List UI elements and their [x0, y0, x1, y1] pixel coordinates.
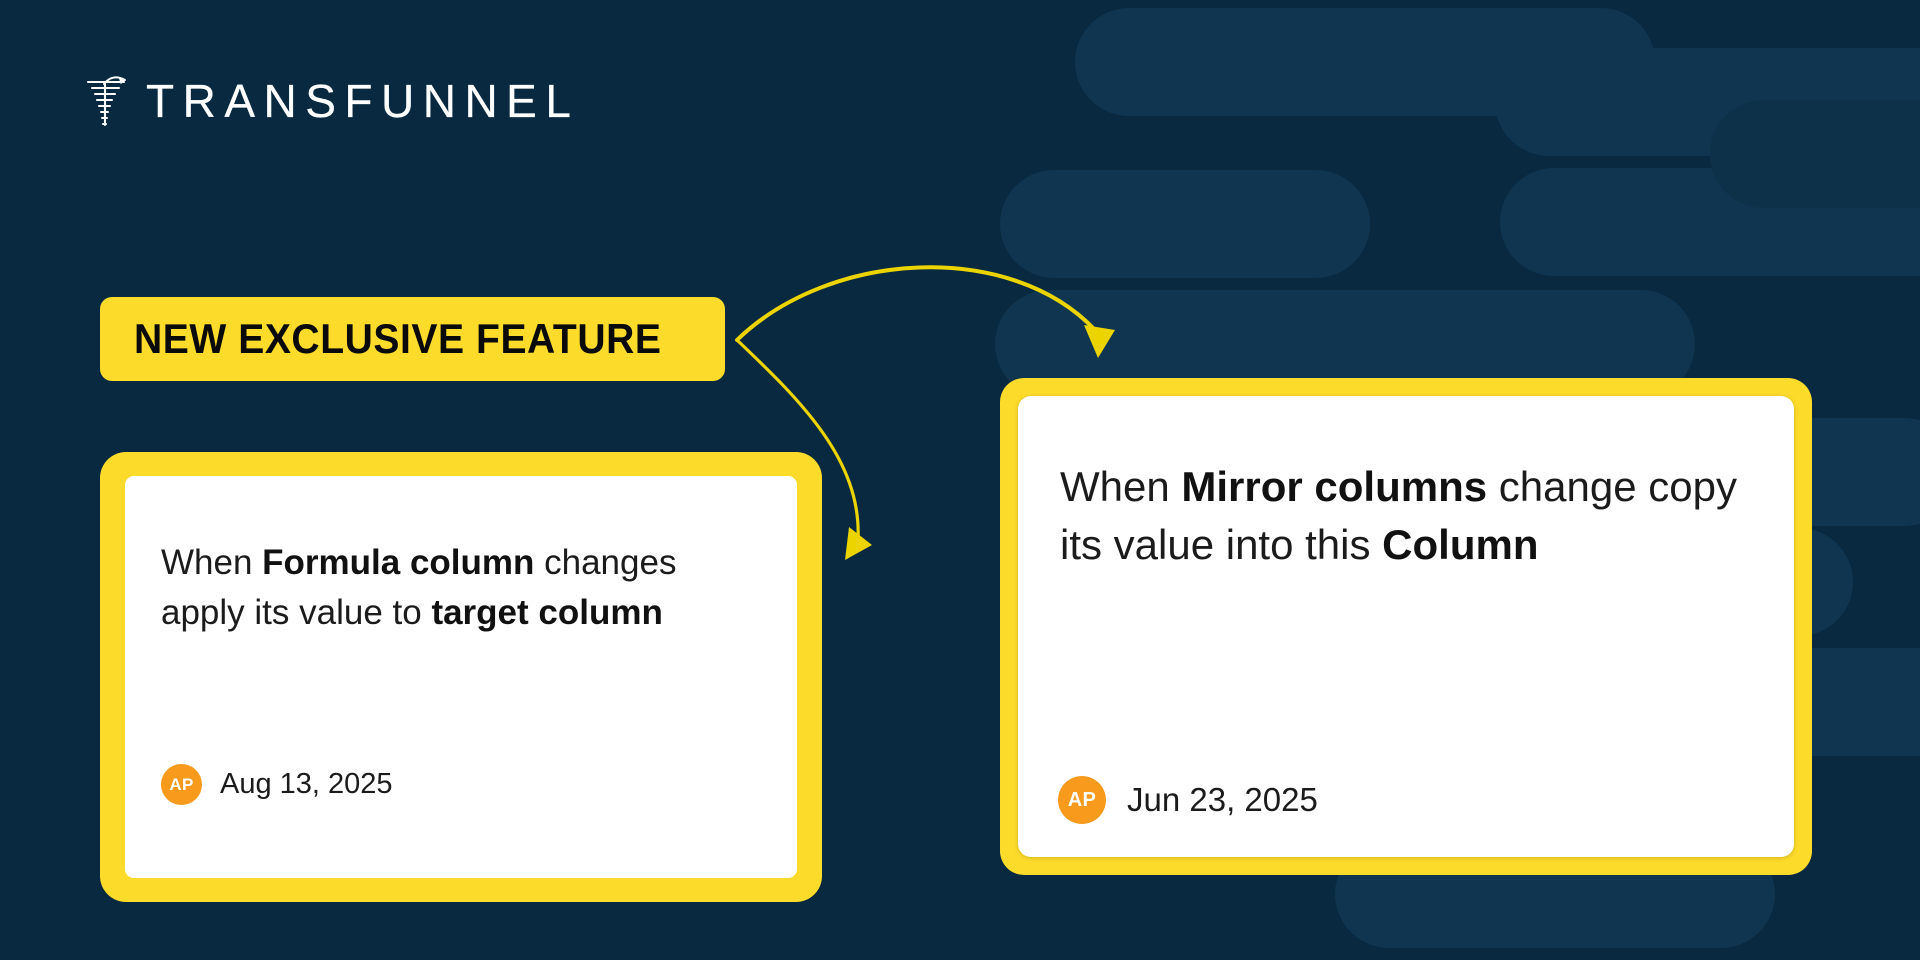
text-segment-bold: Mirror columns — [1181, 463, 1487, 510]
card-formula-column-surface: When Formula column changes apply its va… — [125, 476, 797, 878]
text-segment: When — [1060, 463, 1181, 510]
card-mirror-columns-surface: When Mirror columns change copy its valu… — [1018, 396, 1794, 857]
text-segment-bold: target column — [431, 593, 662, 632]
avatar: AP — [1058, 776, 1106, 824]
card-date: Jun 23, 2025 — [1127, 781, 1318, 819]
new-exclusive-feature-badge: NEW EXCLUSIVE FEATURE — [100, 297, 725, 381]
card-formula-column-meta: AP Aug 13, 2025 — [161, 764, 393, 805]
card-mirror-columns-text: When Mirror columns change copy its valu… — [1060, 458, 1760, 574]
brand-logo: TRANSFUNNEL — [86, 72, 579, 130]
text-segment-bold: Column — [1382, 521, 1538, 568]
text-segment-bold: Formula column — [262, 543, 534, 582]
text-segment: When — [161, 543, 262, 582]
tornado-funnel-icon — [86, 75, 132, 127]
card-mirror-columns-meta: AP Jun 23, 2025 — [1058, 776, 1318, 824]
arrow-badge-to-mirror-card — [737, 267, 1115, 358]
card-formula-column: When Formula column changes apply its va… — [100, 452, 822, 902]
avatar: AP — [161, 764, 202, 805]
promo-banner: TRANSFUNNEL NEW EXCLUSIVE FEATURE When F… — [0, 0, 1920, 960]
card-formula-column-text: When Formula column changes apply its va… — [161, 538, 761, 637]
card-date: Aug 13, 2025 — [220, 768, 393, 801]
logo-wordmark: TRANSFUNNEL — [146, 78, 579, 124]
badge-label: NEW EXCLUSIVE FEATURE — [134, 315, 661, 363]
card-mirror-columns: When Mirror columns change copy its valu… — [1000, 378, 1812, 875]
